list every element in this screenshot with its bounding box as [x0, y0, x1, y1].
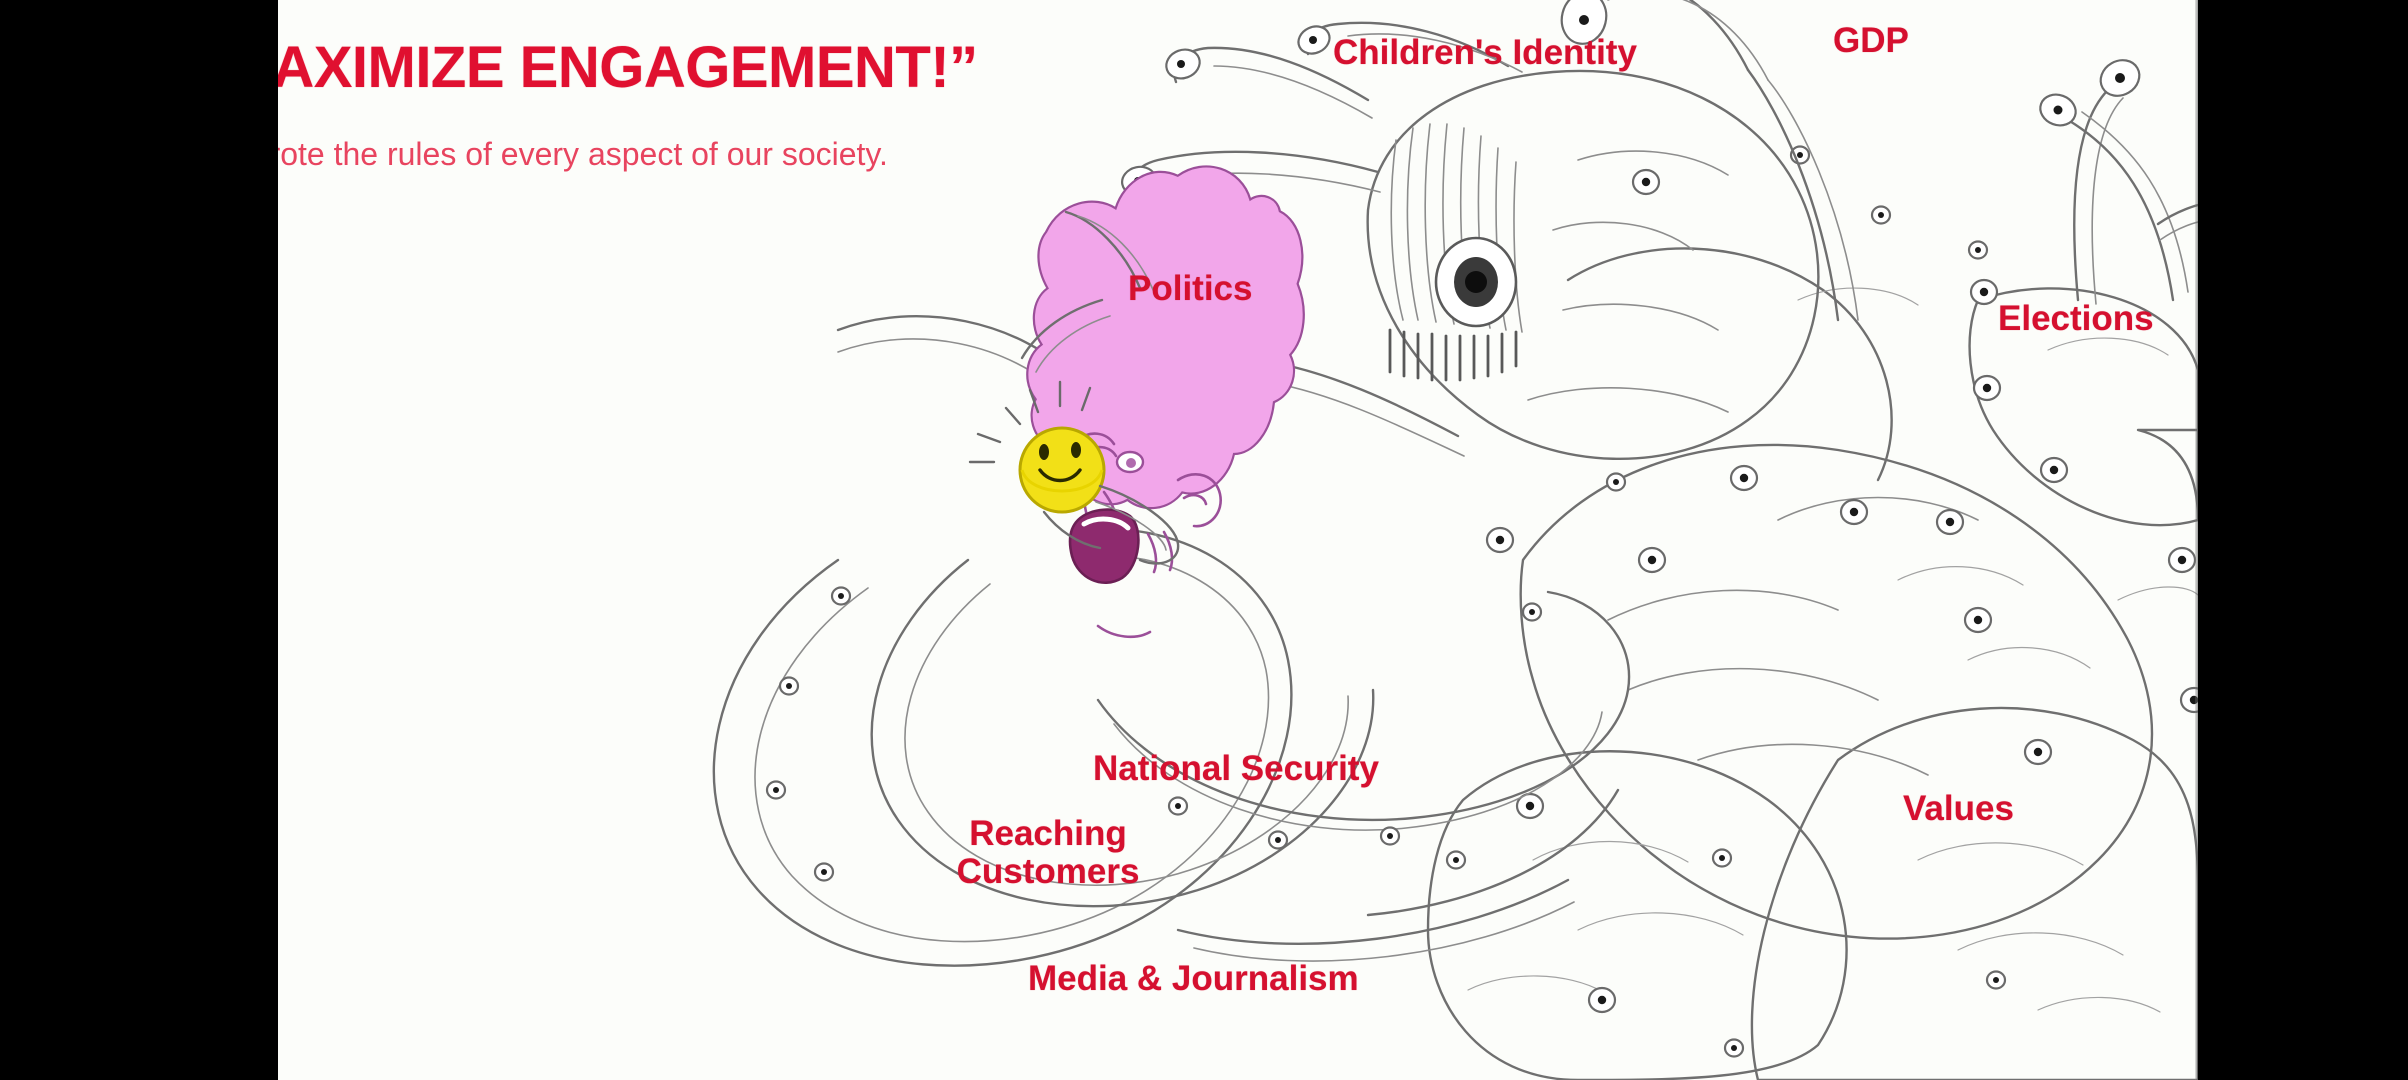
label-values: Values — [1903, 790, 2014, 828]
creature-body-masses — [1428, 248, 2198, 1080]
page-title: “MAXIMIZE ENGAGEMENT!” — [278, 34, 1096, 101]
creature-head — [1368, 71, 1819, 459]
pink-human-head — [1027, 166, 1303, 636]
creature-suction-cups — [1447, 147, 2198, 1057]
creature-main-eye — [1436, 238, 1516, 326]
page-subtitle: rewrote the rules of every aspect of our… — [278, 136, 1118, 173]
label-elections: Elections — [1998, 300, 2154, 338]
label-gdp: GDP — [1833, 22, 1909, 60]
label-reaching-customers: Reaching Customers — [948, 815, 1148, 891]
label-reaching-customers-line1: Reaching — [948, 815, 1148, 853]
label-reaching-customers-line2: Customers — [948, 853, 1148, 891]
label-media-journalism: Media & Journalism — [1028, 960, 1359, 998]
label-politics: Politics — [1128, 270, 1252, 308]
video-frame: .s { fill:none; stroke:#6f6f6f; stroke-w… — [0, 0, 2408, 1080]
label-children-identity: Children's Identity — [1333, 34, 1637, 72]
letterbox-left-bar — [0, 0, 278, 1080]
letterbox-right-bar — [2198, 0, 2408, 1080]
presentation-slide: .s { fill:none; stroke:#6f6f6f; stroke-w… — [278, 0, 2198, 1080]
label-national-security: National Security — [1093, 750, 1379, 788]
